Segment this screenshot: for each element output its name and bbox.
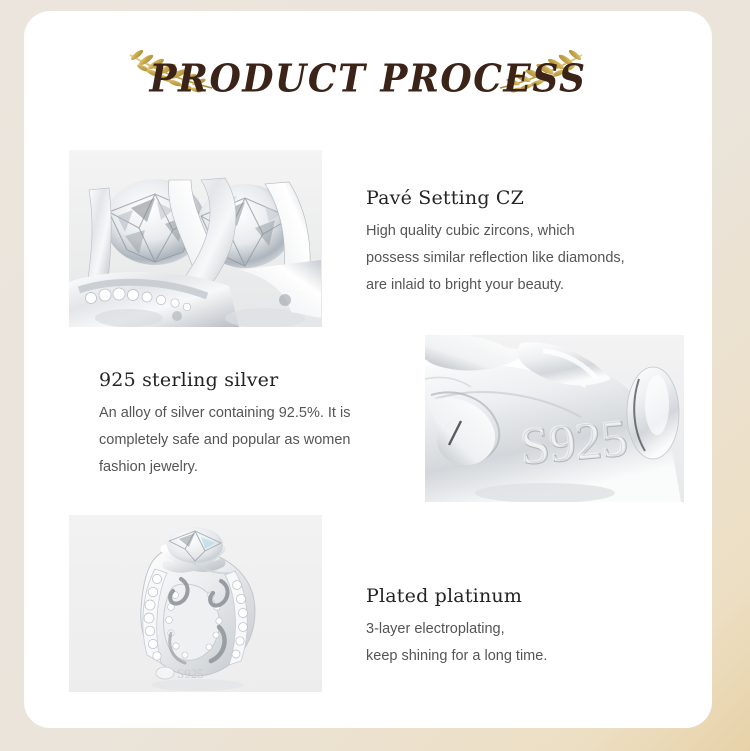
feature-text-pave-setting: Pavé Setting CZ High quality cubic zirco… (366, 150, 625, 299)
feature-body-line: 3-layer electroplating, (366, 616, 547, 643)
s925-hallmark-photo: S925 S925 (425, 335, 684, 502)
plated-ring-side-photo: S925 (69, 515, 322, 692)
cz-stone-closeup-photo (69, 150, 322, 327)
svg-text:S925: S925 (517, 409, 628, 475)
feature-text-plated-platinum: Plated platinum 3-layer electroplating, … (366, 515, 547, 670)
feature-heading: Plated platinum (366, 585, 547, 607)
feature-section-plated-platinum: S925 Plated platinum 3-layer electroplat… (45, 515, 547, 692)
feature-heading: Pavé Setting CZ (366, 187, 625, 209)
feature-body-line: possess similar reflection like diamonds… (366, 245, 625, 272)
feature-body-line: High quality cubic zircons, which (366, 218, 625, 245)
page-title: PRODUCT PROCESS (149, 57, 586, 102)
svg-text:S925: S925 (177, 666, 204, 681)
feature-body-line: keep shining for a long time. (366, 643, 547, 670)
feature-text-sterling-silver: 925 sterling silver An alloy of silver c… (99, 335, 415, 481)
feature-body-line: completely safe and popular as women (99, 427, 415, 454)
infographic-card: PRODUCT PROCESS (24, 11, 712, 728)
feature-section-pave-setting: Pavé Setting CZ High quality cubic zirco… (45, 150, 625, 327)
feature-body-line: fashion jewelry. (99, 454, 415, 481)
feature-heading: 925 sterling silver (99, 369, 415, 391)
feature-body-line: An alloy of silver containing 92.5%. It … (99, 400, 415, 427)
feature-body-line: are inlaid to bright your beauty. (366, 272, 625, 299)
feature-section-sterling-silver: 925 sterling silver An alloy of silver c… (45, 335, 684, 502)
